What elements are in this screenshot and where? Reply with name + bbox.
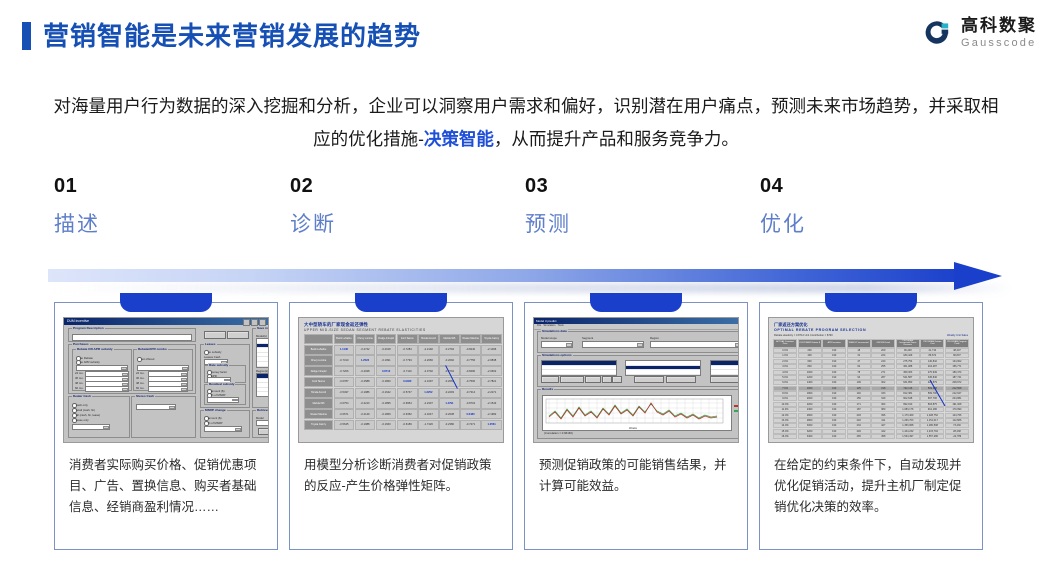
rebate-cell: 204,881 (945, 396, 969, 401)
card-screenshot-elasticity-matrix: 大中型轿车的厂家现金返还弹性 UPPER MID-SIZE SEDAN SEGM… (298, 317, 504, 443)
region-list[interactable] (256, 373, 269, 397)
legend-swatch-predicted (734, 405, 738, 407)
radio-label: amount ($) (208, 416, 222, 420)
term-label: 48 mo. (75, 381, 84, 385)
scenario-list[interactable] (541, 360, 617, 376)
step-number: 04 (760, 176, 806, 196)
rebate-cell: 112,686 (945, 418, 969, 423)
rebate-cell: 190 (822, 348, 846, 353)
rebate-cell: 265 (847, 434, 871, 439)
list-item[interactable] (257, 392, 269, 397)
matrix-cell: -1.7426 (418, 420, 439, 430)
card-caption: 用模型分析诊断消费者对促销政策的反应-产生价格弹性矩阵。 (304, 455, 500, 497)
matrix-column-header: Nissan Maxima (460, 334, 481, 344)
rebate-cell: 190 (822, 413, 846, 418)
matrix-cell: -0.2028 (355, 366, 376, 376)
rebate-cell: 1,444,232 (896, 429, 920, 434)
mock-matrix: 大中型轿车的厂家现金返还弹性 UPPER MID-SIZE SEDAN SEGM… (299, 318, 503, 442)
rebate-cell: 240 (871, 359, 895, 364)
matrix-cell: 1.4791 (439, 398, 460, 408)
matrix-cell: -0.2149 (355, 409, 376, 419)
matrix-row-header: Dodge Intrepid (304, 366, 333, 376)
matrix-cell: -0.7500 (460, 377, 481, 387)
correlation-annotation: (Correlation = 0.96166) (544, 431, 573, 435)
rebate-cell: 364 (871, 402, 895, 407)
rebate-cell: 1,534,497 (896, 434, 920, 439)
rebate-cell: 361,088 (896, 364, 920, 369)
matrix-column-header: Mazda 626 (439, 334, 460, 344)
retrieve-model-combo[interactable] (256, 420, 269, 426)
rebate-cell: 427 (871, 423, 895, 428)
group-title: Results (541, 387, 554, 391)
rebate-cell: 11.0% (773, 407, 797, 412)
matrix-cell: -0.6787 (334, 377, 355, 387)
title-accent-bar (22, 22, 31, 50)
card-tab (120, 293, 212, 312)
matrix-cell: -0.8240 (460, 345, 481, 355)
svg-text:Weeks: Weeks (629, 426, 638, 430)
arrow-shaft (48, 269, 966, 282)
group-title: Rate subsidy (208, 363, 229, 367)
field-label: Segment (582, 336, 593, 340)
rebate-cell: 3400 (798, 434, 822, 439)
radio-label: not offered (141, 357, 154, 361)
rebate-subtitle-left: Rebate elasticity = 0.8712 Unit Contribu… (774, 334, 833, 337)
rebate-cell: 14.0% (773, 423, 797, 428)
rebate-cell: 190 (822, 375, 846, 380)
rebate-cell: 396 (871, 413, 895, 418)
term-label: 48 mo. (136, 381, 145, 385)
remove-button[interactable] (560, 376, 584, 383)
rebate-column-header: WEEKLY Incremental (847, 339, 871, 348)
rebate-cell: 28,438 (945, 429, 969, 434)
progress-arrow (48, 262, 1003, 290)
rebate-cell: 1,028,752 (920, 413, 944, 418)
rebate-cell: 902,648 (896, 396, 920, 401)
group-title: Rebate/APR combo (137, 347, 168, 351)
rebate-cell: 0.0% (773, 348, 797, 353)
rebate-cell: 3.0% (773, 364, 797, 369)
step-item-03: 03 预测 (525, 176, 571, 235)
rebate-cell: 204,287 (920, 364, 944, 369)
rebate-cell: 156 (847, 396, 871, 401)
segment-combo[interactable] (582, 341, 644, 348)
rebate-cell: 180,474 (945, 370, 969, 375)
rebate-cell: 2000 (798, 396, 822, 401)
residual-subsidy-combo[interactable] (207, 397, 239, 403)
matrix-cell: -0.6189 (397, 420, 418, 430)
rebate-cell: 3000 (798, 423, 822, 428)
list-item[interactable] (542, 370, 616, 375)
matrix-cell: -2.2271 (481, 388, 502, 398)
rebate-cell: 31 (847, 353, 871, 358)
rebate-cell: 190 (822, 423, 846, 428)
slide-root: 营销智能是未来营销发展的趋势 高科数聚 Gausscode 对海量用户行为数据的… (0, 0, 1051, 586)
logo-name-cn: 高科数聚 (961, 17, 1037, 34)
select-all-button[interactable] (634, 376, 664, 383)
radio-label: % of MSRP (208, 421, 222, 425)
rebate-cell: 400 (798, 353, 822, 358)
matrix-title-en: UPPER MID-SIZE SEDAN SEGMENT REBATE ELAS… (304, 328, 426, 332)
matrix-cell: -2.3702 (418, 366, 439, 376)
matrix-cell: -0.8490 (460, 366, 481, 376)
dealer-cash-combo[interactable] (72, 424, 110, 430)
rebate-cell: 180,429 (896, 353, 920, 358)
card-screenshot-rebate-table: 厂家返还方案优化 OPTIMAL REBATE PROGRAM SELECTIO… (768, 317, 974, 443)
rebate-cell: 90,248 (896, 348, 920, 353)
rebate-cell: 1,557,286 (920, 434, 944, 439)
rebate-cell: 458 (871, 434, 895, 439)
rebate-column-header: PROGRAM Rebate Cost (920, 339, 944, 348)
group-purchases: Purchases Rebate OR APR subsidy no Rebat… (68, 344, 196, 394)
step-number: 02 (290, 176, 336, 196)
group-rebate-apr-subsidy: Rebate OR APR subsidy no Rebate no APR s… (72, 349, 132, 391)
group-simulations-data: Simulations data Model scope Segment Reg… (537, 331, 739, 353)
rebate-cell: 1600 (798, 386, 822, 391)
msrp-change-combo[interactable] (204, 426, 242, 432)
card-screenshot-windows-dialog: DUM incentive Program Description Purcha… (63, 317, 269, 443)
rebate-cell: 302 (871, 380, 895, 385)
rebate-cell: 187,741 (945, 375, 969, 380)
move-up-button[interactable] (602, 376, 612, 383)
rebate-cell: 287 (871, 375, 895, 380)
group-program-description: Program Description (68, 328, 196, 342)
rebate-cell: 1000 (798, 370, 822, 375)
matrix-cell: -0.2692 (439, 355, 460, 365)
matrix-cell: 0.8712 (376, 366, 397, 376)
matrix-cell: -0.2380 (439, 420, 460, 430)
add-button[interactable] (541, 376, 559, 383)
graph-button[interactable] (710, 376, 739, 383)
elasticity-table: Buick LeSabreChevy LuminaDodge IntrepidF… (304, 334, 498, 430)
rebate-cell: 1,173,409 (896, 413, 920, 418)
matrix-row-header: Toyota Camry (304, 420, 333, 430)
step-label: 优化 (760, 214, 806, 235)
group-residual-subsidy: Residual subsidy amount ($) % of MSRP (204, 384, 246, 405)
matrix-cell: -0.1860 (376, 377, 397, 387)
rebate-cell: 212,508 (945, 386, 969, 391)
rebate-cell: 318 (871, 386, 895, 391)
rebate-cell: 16.0% (773, 434, 797, 439)
rebate-cell: 2200 (798, 402, 822, 407)
matrix-cell: 1.1148 (334, 345, 355, 355)
group-save-incentives: Save incentives Model(s) Region(s) (252, 328, 269, 408)
rebate-cell: 270,949 (920, 370, 944, 375)
card-screenshot-simulation-window: Model 3 predict File Simulation Tools Si… (533, 317, 739, 443)
move-down-button[interactable] (612, 376, 622, 383)
term-label: 24 mo. (75, 371, 84, 375)
term-60-combo[interactable] (85, 386, 129, 392)
rebate-cell: 94 (847, 375, 871, 380)
rebate-cell: 140 (847, 391, 871, 396)
title-text: 营销智能是未来营销发展的趋势 (43, 23, 421, 49)
matrix-cell: 1.2522 (355, 355, 376, 365)
radio-label: cash only (76, 403, 88, 407)
mock-simulation-window: Model 3 predict File Simulation Tools Si… (534, 318, 738, 442)
term-label: 36 mo. (75, 376, 84, 380)
rebate-cell: 190 (822, 434, 846, 439)
matrix-cell: -2.2666 (418, 355, 439, 365)
rebate-cell: 1200 (798, 375, 822, 380)
radio-label: lease only (76, 418, 89, 422)
close-button[interactable] (227, 331, 249, 339)
rebate-column-header: PROGRAM Incremental Gross Revenue (896, 339, 920, 348)
card-predict[interactable]: Model 3 predict File Simulation Tools Si… (524, 302, 748, 550)
group-leases: Leases no subsidy Leases Cash Rate subsi… (200, 344, 250, 408)
rebate-cell: 3200 (798, 429, 822, 434)
matrix-cell: -2.3247 (418, 409, 439, 419)
group-simulations-options: Simulations options (537, 355, 739, 387)
step-label: 诊断 (290, 214, 336, 235)
rebate-column-header: CUSTOMER Rebate $ (798, 339, 822, 348)
gausscode-logo-icon (922, 18, 952, 48)
matrix-column-header: Toyota Camry (481, 334, 502, 344)
list-item[interactable] (257, 367, 269, 368)
rebate-cell: 109 (847, 380, 871, 385)
matrix-cell: -0.7756 (460, 355, 481, 365)
group-title: Residual subsidy (208, 382, 235, 386)
rebate-cell: 333 (871, 391, 895, 396)
matrix-cell: -0.2018 (376, 345, 397, 355)
rebate-cell: 249 (847, 429, 871, 434)
rebate-cell: 171 (847, 402, 871, 407)
group-results: Results (537, 389, 739, 439)
rebate-cell: 5.0% (773, 375, 797, 380)
rebate-cell: 203 (847, 413, 871, 418)
step-item-02: 02 诊断 (290, 176, 336, 235)
rebate-cell: 18 (847, 348, 871, 353)
group-title: Save incentives (256, 326, 269, 330)
matrix-cell: -0.7206 (334, 366, 355, 376)
list-item[interactable] (711, 370, 739, 375)
mock-window: DUM incentive Program Description Purcha… (64, 318, 268, 442)
rebate-cell: 190 (822, 364, 846, 369)
matrix-cell: -2.0602 (481, 366, 502, 376)
model-select-list[interactable] (625, 360, 701, 376)
matrix-cell: -0.1986 (355, 388, 376, 398)
program-description-input[interactable] (72, 334, 192, 341)
rebate-cell: 380 (871, 407, 895, 412)
card-describe[interactable]: DUM incentive Program Description Purcha… (54, 302, 278, 550)
save-button[interactable] (204, 331, 226, 339)
rebate-cell: 190 (822, 359, 846, 364)
card-diagnose[interactable]: 大中型轿车的厂家现金返还弹性 UPPER MID-SIZE SEDAN SEGM… (289, 302, 513, 550)
rebate-cell: 992,910 (896, 402, 920, 407)
matrix-cell: -2.0838 (481, 355, 502, 365)
rebate-cell: 2800 (798, 418, 822, 423)
matrix-cell: 0.6480 (460, 409, 481, 419)
model-list[interactable] (256, 338, 269, 368)
group-title: Stereo Cash (135, 394, 155, 398)
term-label: 60 mo. (136, 386, 145, 390)
rebate-cell: 144,766 (945, 413, 969, 418)
matrix-row-header: Mazda 626 (304, 398, 333, 408)
rebate-cell: 191,008 (945, 402, 969, 407)
radio-label: all (cash, fin, lease) (76, 413, 100, 417)
matrix-cell: -0.5645 (334, 420, 355, 430)
matrix-row-header: Chevy Lumina (304, 355, 333, 365)
card-caption: 在给定的约束条件下，自动发现并优化促销活动，提升主机厂制定促销优化决策的效率。 (774, 455, 970, 518)
card-tab (825, 293, 917, 312)
matrix-cell: -0.6352 (397, 409, 418, 419)
matrix-row-header: Ford Taurus (304, 377, 333, 387)
matrix-cell: -2.7821 (481, 377, 502, 387)
rebate-cell: 275,754 (896, 359, 920, 364)
paragraph-highlight: 决策智能 (424, 129, 494, 149)
step-item-04: 04 优化 (760, 176, 806, 235)
matrix-cell: -0.7271 (460, 420, 481, 430)
prediction-chart: Weeks (542, 395, 732, 431)
rebate-cell: 1,415,794 (920, 429, 944, 434)
matrix-cell: -0.7310 (334, 355, 355, 365)
rebate-cell: 190 (822, 391, 846, 396)
group-title: Simulations data (541, 329, 568, 333)
step-label: 预测 (525, 214, 571, 235)
matrix-cell: 1.2252 (418, 388, 439, 398)
matrix-corner-cell (304, 334, 333, 344)
rebate-cell: 187 (847, 407, 871, 412)
rebate-cell: 73,430 (945, 423, 969, 428)
rebate-cell: 349 (871, 396, 895, 401)
card-caption: 预测促销政策的可能销售结果，并计算可能效益。 (539, 455, 735, 497)
rebate-cell: 1400 (798, 380, 822, 385)
matrix-cell: 1.2561 (481, 420, 502, 430)
rebate-cell: 812,381 (896, 391, 920, 396)
rebate-cell: 541,587 (896, 375, 920, 380)
clear-button[interactable] (258, 428, 269, 435)
matrix-cell: -2.1543 (481, 398, 502, 408)
rebate-cell: 218 (847, 418, 871, 423)
matrix-cell: -0.1642 (376, 388, 397, 398)
rebate-cell: 255 (871, 364, 895, 369)
rebate-cell: 234 (847, 423, 871, 428)
rebate-column-header: APR Incentive (822, 339, 846, 348)
output-select-list[interactable] (710, 360, 739, 376)
rebate-cell: 190 (822, 402, 846, 407)
rebate-cell: 190 (822, 407, 846, 412)
rebate-cell: 599,700 (920, 391, 944, 396)
matrix-cell: -0.1895 (376, 398, 397, 408)
rebate-cell: 411 (871, 418, 895, 423)
rebate-cell: 722,116 (896, 386, 920, 391)
rebate-cell: 345,846 (920, 375, 944, 380)
rebate-title-en: OPTIMAL REBATE PROGRAM SELECTION (774, 328, 866, 332)
rebate-cell: 89,672 (920, 353, 944, 358)
rebate-cell: -22,789 (945, 434, 969, 439)
matrix-column-header: Chevy Lumina (355, 334, 376, 344)
matrix-cell: -0.6754 (334, 398, 355, 408)
card-tab (590, 293, 682, 312)
rebate-cell: 1,353,968 (896, 423, 920, 428)
rebate-cell: 459,303 (896, 370, 920, 375)
window-controls (243, 319, 266, 326)
rebate-cell: 209 (871, 348, 895, 353)
rebate-cell: 600 (798, 359, 822, 364)
group-title: Rebate OR APR subsidy (76, 347, 114, 351)
rebate-cell: 208,972 (945, 380, 969, 385)
step-number: 03 (525, 176, 571, 196)
rebate-column-header: PROGRAM Program Profit (945, 339, 969, 348)
matrix-cell: -0.2638 (439, 409, 460, 419)
rebate-column-header: ACTUAL Customer Price (773, 339, 797, 348)
model-scope-combo[interactable] (541, 341, 573, 348)
matrix-column-header: Dodge Intrepid (376, 334, 397, 344)
rebate-cell: 2.0% (773, 359, 797, 364)
radio-label: no APR subsidy (80, 360, 100, 364)
matrix-cell: -0.6954 (397, 398, 418, 408)
rebate-cell: 1,083,176 (896, 407, 920, 412)
step-item-01: 01 描述 (54, 176, 100, 235)
card-optimize[interactable]: 厂家返还方案优化 OPTIMAL REBATE PROGRAM SELECTIO… (759, 302, 983, 550)
rebate-cell: 6.0% (773, 380, 797, 385)
group-rebate-apr-combo: Rebate/APR combo not offered 24 mo. 36 m… (133, 349, 193, 391)
chart-svg: Weeks (543, 396, 731, 430)
rebate-cell: 1800 (798, 391, 822, 396)
rebate-cell: 224 (871, 353, 895, 358)
rebate-cell: 1,280,508 (920, 423, 944, 428)
region-combo[interactable] (650, 341, 739, 348)
matrix-cell: -0.7793 (397, 355, 418, 365)
matrix-column-header: Ford Taurus (397, 334, 418, 344)
matrix-row-header: Buick LeSabre (304, 345, 333, 355)
matrix-cell: -0.2794 (439, 345, 460, 355)
rebate-cell: 7.0% (773, 386, 797, 391)
arrow-head-icon (954, 262, 1002, 290)
rebate-cell: 62 (847, 364, 871, 369)
matrix-cell: -0.2213 (355, 398, 376, 408)
edit-button[interactable] (585, 376, 601, 383)
matrix-cell: -2.1982 (481, 409, 502, 419)
rebate-subtitle-right: Weekly Unit Sales (947, 334, 968, 337)
stereo-cash-combo[interactable] (136, 404, 176, 410)
matrix-cell: -0.5497 (334, 388, 355, 398)
rebate-cell: 1,151,017 (920, 418, 944, 423)
matrix-cell: -2.2337 (418, 398, 439, 408)
rebate-cell: 156,771 (945, 364, 969, 369)
matrix-cell: -0.6671 (334, 409, 355, 419)
matrix-cell: -0.1660 (376, 420, 397, 430)
matrix-row-header: Nissan Maxima (304, 409, 333, 419)
group-title: Dealer Cash (72, 394, 92, 398)
matrix-column-header: Buick LeSabre (334, 334, 355, 344)
matrix-column-header: Honda Accord (418, 334, 439, 344)
rebate-cell: 12.0% (773, 413, 797, 418)
matrix-cell: -0.7284 (397, 345, 418, 355)
combo-market-rate-60[interactable] (148, 386, 188, 392)
matrix-cell: -0.1991 (376, 355, 397, 365)
rebate-cell: 200 (798, 348, 822, 353)
matrix-cell: -0.1988 (355, 420, 376, 430)
rebate-cell: 1.0% (773, 353, 797, 358)
arrow-shadow (52, 283, 1012, 293)
rebate-cell: 190 (822, 396, 846, 401)
radio-label: no subsidy (208, 350, 221, 354)
group-stereo-cash: Stereo Cash (131, 396, 196, 438)
group-dealer-cash: Dealer Cash cash only retail (cash, fin)… (68, 396, 130, 438)
clear-all-button[interactable] (666, 376, 696, 383)
group-msrp-change: MSRP change amount ($) % of MSRP (200, 410, 250, 438)
step-list: 01 描述 02 诊断 03 预测 04 优化 (54, 176, 1004, 246)
rebate-cell: 800 (798, 364, 822, 369)
step-label: 描述 (54, 214, 100, 235)
matrix-cell: -0.1869 (376, 409, 397, 419)
card-caption: 消费者实际购买价格、促销优惠项目、广告、置换信息、购买者基础信息、经销商盈利情况… (69, 455, 265, 518)
group-title: Simulations options (541, 353, 573, 357)
rebate-cell: 442 (871, 429, 895, 434)
rebate-cell: 41,710 (920, 348, 944, 353)
rebate-cell: 15.0% (773, 429, 797, 434)
rebate-cell: 125 (847, 386, 871, 391)
